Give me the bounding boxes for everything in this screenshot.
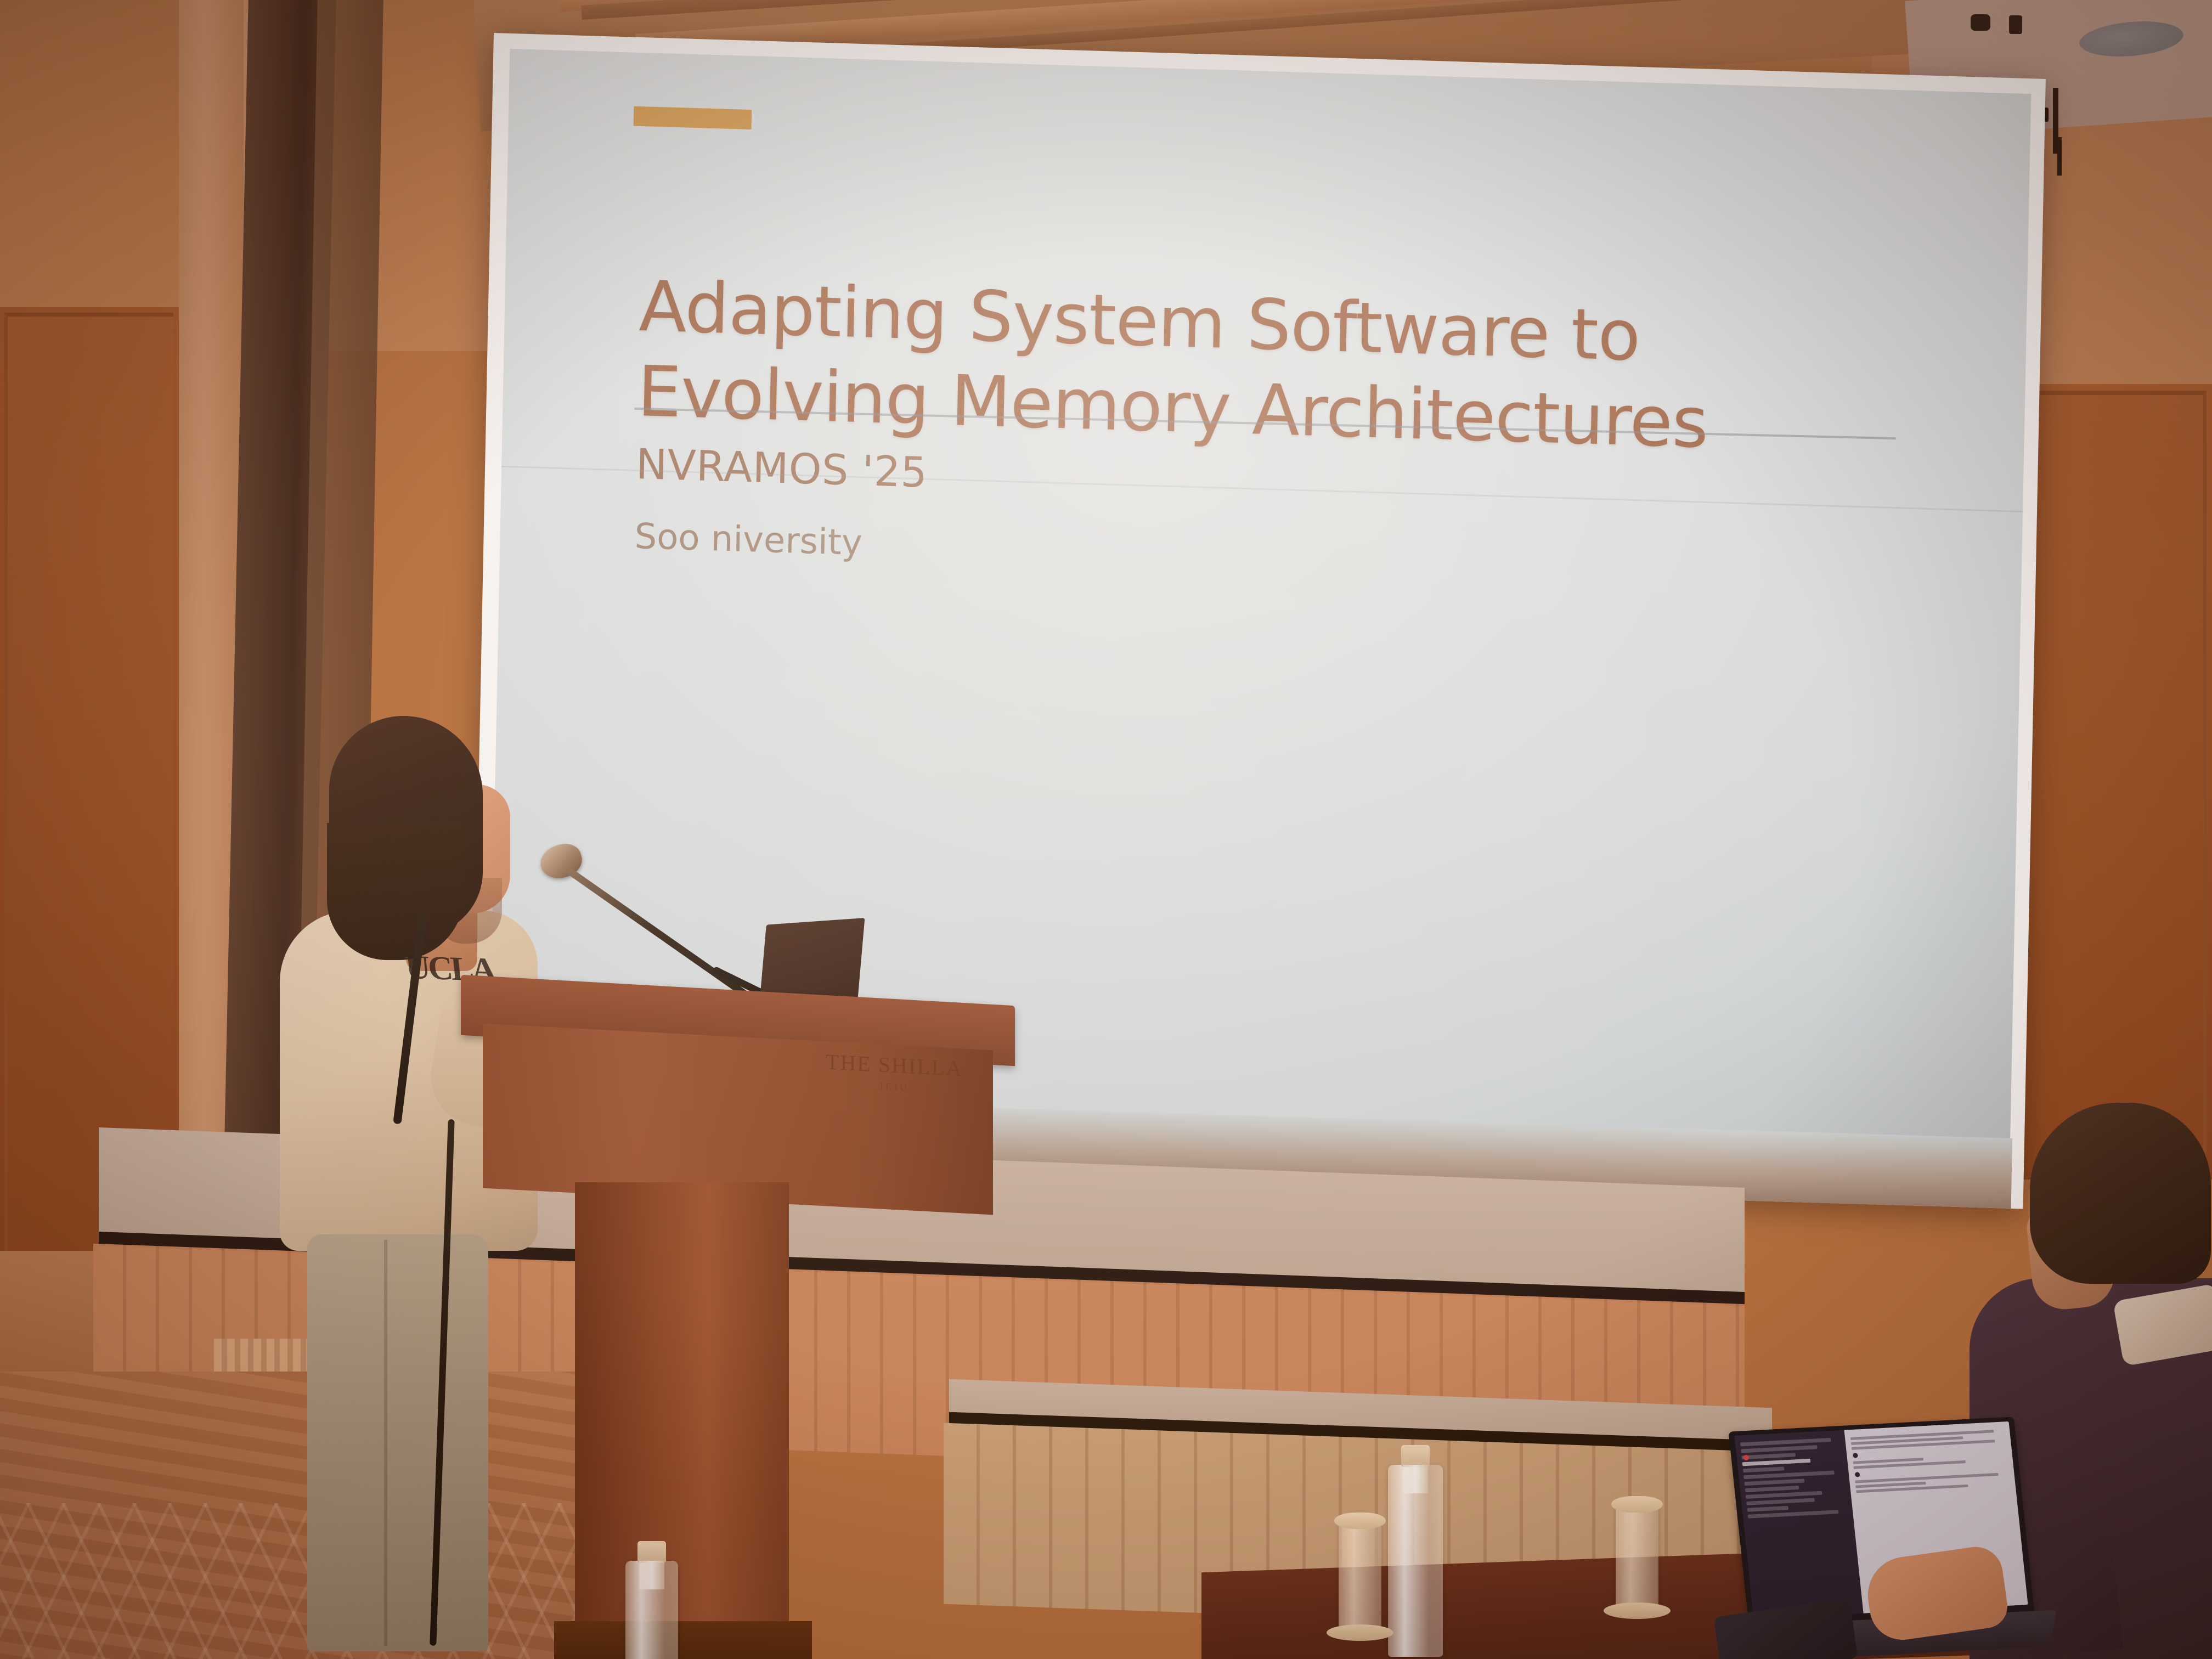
glass-coaster: [1604, 1602, 1671, 1619]
slide-affiliation: Soo niversity: [634, 516, 863, 563]
left-wood-wall-panel: [0, 307, 181, 1267]
bottle-cap: [1401, 1445, 1430, 1467]
presenter-trouser-seam: [384, 1240, 387, 1646]
ceiling-bolt: [1971, 14, 1990, 31]
document-line: [1855, 1473, 1999, 1483]
chat-line: [1741, 1453, 1795, 1459]
drinking-glass: [1339, 1522, 1381, 1632]
podium-venue-logo: THE SHILLA JEJU: [823, 1048, 966, 1097]
recording-indicator-icon: [1743, 1455, 1749, 1460]
chat-line: [1746, 1498, 1815, 1505]
document-bullet-icon: [1853, 1453, 1858, 1458]
podium-base: [554, 1621, 812, 1659]
chat-line: [1747, 1506, 1788, 1512]
podium-column: [575, 1182, 789, 1659]
document-bullet-icon: [1855, 1472, 1860, 1477]
slide-title: Adapting System Software to Evolving Mem…: [636, 264, 1846, 470]
glass-coaster: [1327, 1624, 1393, 1641]
bottle-neck: [1403, 1465, 1428, 1493]
water-bottle: [625, 1561, 678, 1659]
laptop-chat-panel[interactable]: [1734, 1430, 1863, 1620]
presenter-trousers: [307, 1234, 488, 1651]
chat-line: [1744, 1479, 1804, 1486]
drinking-glass: [1616, 1506, 1658, 1610]
chat-line-selected: [1742, 1459, 1811, 1466]
glass-lid: [1334, 1513, 1386, 1529]
chat-line: [1740, 1438, 1831, 1447]
bottle-cap: [637, 1541, 666, 1563]
water-bottle: [1388, 1465, 1443, 1657]
chat-line: [1743, 1466, 1785, 1472]
ceiling-bolt: [2009, 15, 2022, 34]
presenter-hair-back: [327, 823, 464, 960]
conference-photo-scene: Adapting System Software to Evolving Mem…: [0, 0, 2212, 1659]
chat-line: [1745, 1486, 1799, 1492]
glass-lid: [1611, 1496, 1663, 1513]
bottle-neck: [639, 1561, 664, 1589]
slide-subtitle: NVRAMOS '25: [635, 439, 928, 497]
chat-line: [1741, 1445, 1818, 1453]
slide-accent-bar: [634, 106, 752, 129]
screen-mount-rod: [2057, 137, 2062, 176]
attendee-head: [2030, 1103, 2211, 1284]
